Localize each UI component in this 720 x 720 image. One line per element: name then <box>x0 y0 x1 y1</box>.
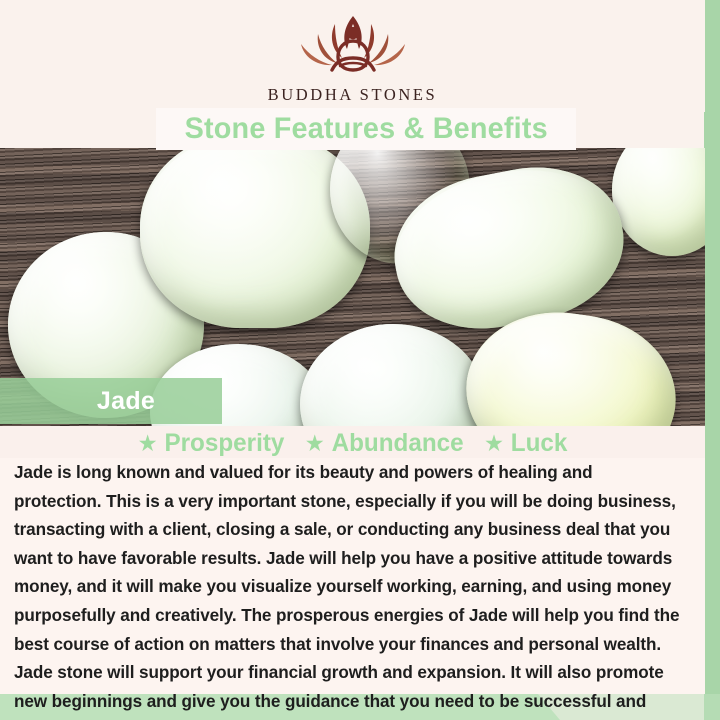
star-icon: ★ <box>138 432 158 455</box>
benefits-row: ★ Prosperity ★ Abundance ★ Luck <box>0 426 705 460</box>
brand-logo: BUDDHA STONES <box>268 8 438 105</box>
star-icon: ★ <box>305 432 325 455</box>
description-section: Jade is long known and valued for its be… <box>0 458 705 694</box>
decorative-band-right <box>704 0 720 720</box>
stone-name-label: Jade <box>67 387 155 416</box>
benefit-label-luck: Luck <box>511 429 568 458</box>
stone-feature-card: BUDDHA STONES Stone Features & Benefits … <box>0 0 720 720</box>
benefit-label-abundance: Abundance <box>332 429 464 458</box>
benefit-label-prosperity: Prosperity <box>164 429 284 458</box>
description-text: Jade is long known and valued for its be… <box>14 458 680 720</box>
section-title-bar: Stone Features & Benefits <box>156 108 576 150</box>
brand-header: BUDDHA STONES <box>0 0 705 112</box>
star-icon: ★ <box>484 432 504 455</box>
brand-name: BUDDHA STONES <box>268 85 438 105</box>
stone-name-banner: Jade <box>0 378 222 424</box>
page-title: Stone Features & Benefits <box>184 112 547 146</box>
lotus-meditation-figure-icon <box>280 8 426 82</box>
